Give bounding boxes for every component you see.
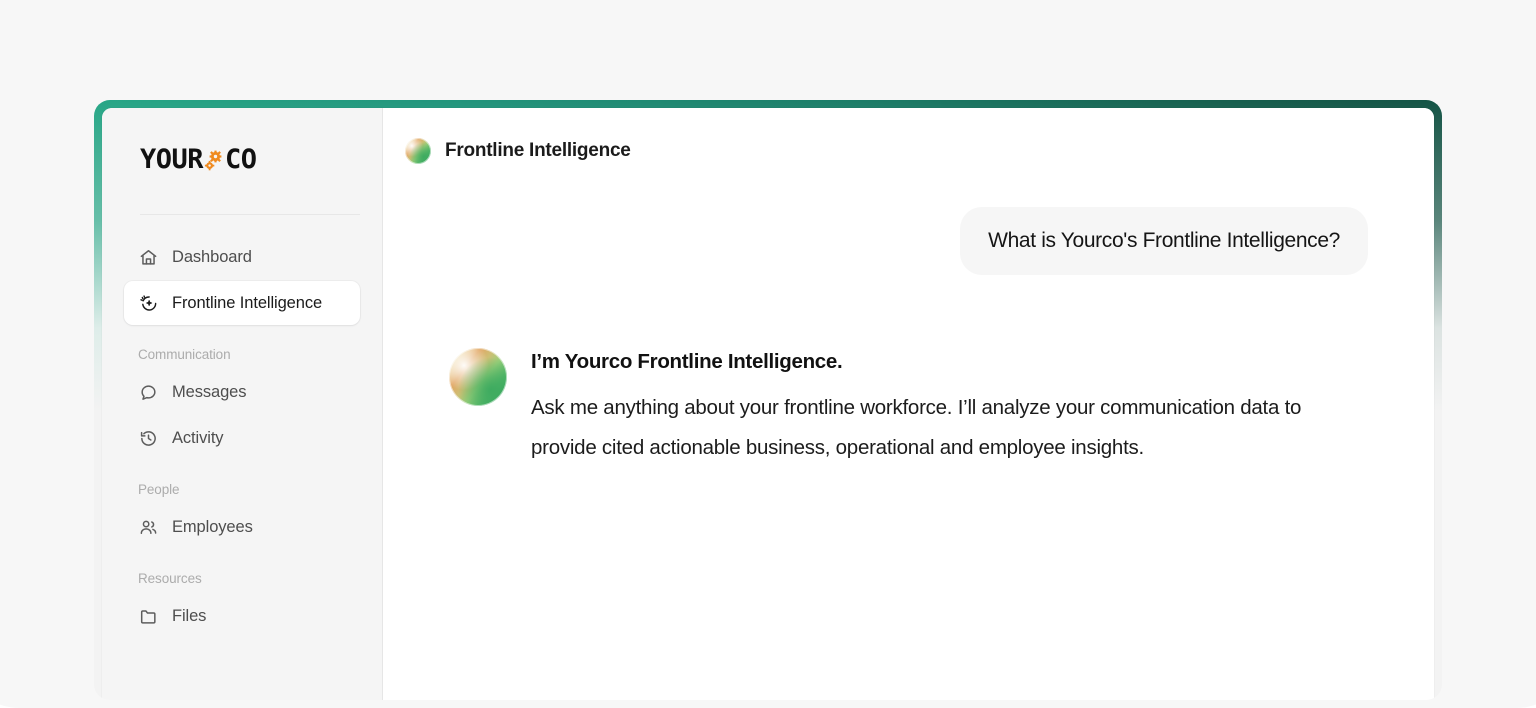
home-icon: [138, 247, 158, 267]
assistant-gradient-orb-avatar-icon: [449, 348, 507, 406]
logo-text-left: YOUR: [140, 146, 203, 173]
assistant-message-body: I’m Yourco Frontline Intelligence. Ask m…: [531, 348, 1368, 468]
sidebar-item-frontline-intelligence[interactable]: Frontline Intelligence: [124, 281, 360, 325]
sidebar-item-files[interactable]: Files: [124, 594, 360, 638]
assistant-message-paragraph: Ask me anything about your frontline wor…: [531, 388, 1361, 468]
logo-text-right: CO: [225, 146, 257, 173]
chat-transcript[interactable]: What is Yourco's Frontline Intelligence?…: [383, 164, 1434, 700]
ai-sparkle-icon: [138, 293, 158, 313]
sidebar-item-employees[interactable]: Employees: [124, 505, 360, 549]
folder-icon: [138, 606, 158, 626]
user-message-row: What is Yourco's Frontline Intelligence?: [449, 207, 1368, 275]
sidebar-item-label: Frontline Intelligence: [172, 294, 322, 313]
sidebar-nav: Dashboard Frontline Intelligence Communi…: [102, 215, 382, 640]
sidebar-section-label-communication: Communication: [124, 347, 360, 362]
sidebar-item-label: Messages: [172, 383, 246, 402]
sidebar-item-label: Activity: [172, 429, 223, 448]
chat-bubble-icon: [138, 382, 158, 402]
users-icon: [138, 517, 158, 537]
user-message-bubble: What is Yourco's Frontline Intelligence?: [960, 207, 1368, 275]
sidebar-item-dashboard[interactable]: Dashboard: [124, 235, 360, 279]
sidebar-section-label-people: People: [124, 482, 360, 497]
sidebar-section-label-resources: Resources: [124, 571, 360, 586]
assistant-message-heading: I’m Yourco Frontline Intelligence.: [531, 350, 1368, 374]
gear-cluster-icon: [204, 148, 224, 172]
history-clock-icon: [138, 428, 158, 448]
sidebar: YOUR: [102, 108, 383, 700]
gradient-orb-avatar-icon: [405, 138, 431, 164]
sidebar-item-label: Employees: [172, 518, 253, 537]
sidebar-item-label: Files: [172, 607, 206, 626]
page-title: Frontline Intelligence: [445, 140, 631, 162]
content-header: Frontline Intelligence: [383, 108, 1434, 164]
app-shell: YOUR: [102, 108, 1434, 700]
main-content: Frontline Intelligence What is Yourco's …: [383, 108, 1434, 700]
brand-logo[interactable]: YOUR: [102, 108, 382, 200]
sidebar-item-activity[interactable]: Activity: [124, 416, 360, 460]
assistant-message-row: I’m Yourco Frontline Intelligence. Ask m…: [449, 348, 1368, 468]
sidebar-item-messages[interactable]: Messages: [124, 370, 360, 414]
app-window-frame: YOUR: [94, 100, 1442, 700]
sidebar-item-label: Dashboard: [172, 248, 252, 267]
